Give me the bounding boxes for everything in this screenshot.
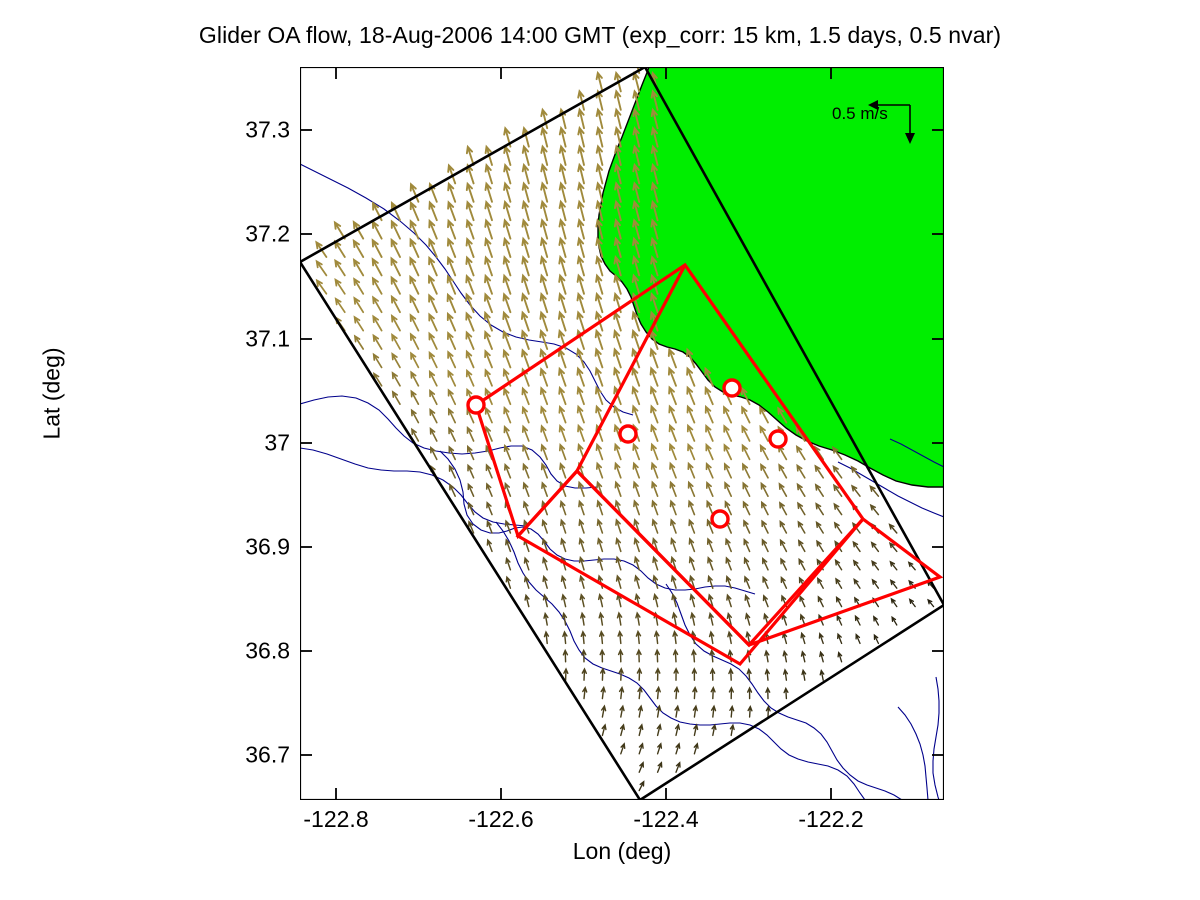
y-axis-label: Lat (deg)	[39, 264, 66, 524]
y-tick-36.8: 36.8	[200, 638, 290, 665]
vector-scale-label: 0.5 m/s	[832, 104, 888, 124]
x-tick--122.4: -122.4	[596, 806, 736, 833]
y-tick-37: 37	[200, 430, 290, 457]
y-tick-36.7: 36.7	[200, 742, 290, 769]
y-tick-37.1: 37.1	[200, 326, 290, 353]
y-axis-tick-labels: 37.3 37.2 37.1 37 36.9 36.8 36.7	[195, 0, 290, 900]
y-tick-37.3: 37.3	[200, 117, 290, 144]
figure-title: Glider OA flow, 18-Aug-2006 14:00 GMT (e…	[0, 22, 1200, 49]
x-tick--122.8: -122.8	[266, 806, 406, 833]
map-canvas	[300, 67, 944, 800]
waypoint-marker	[620, 426, 636, 442]
waypoint-marker	[724, 380, 740, 396]
plot-area: 0.5 m/s	[300, 67, 944, 800]
waypoint-marker	[712, 511, 728, 527]
x-tick--122.6: -122.6	[431, 806, 571, 833]
x-axis-tick-labels: -122.8 -122.6 -122.4 -122.2	[0, 806, 1200, 846]
waypoint-marker	[468, 397, 484, 413]
y-tick-36.9: 36.9	[200, 534, 290, 561]
figure-page: Glider OA flow, 18-Aug-2006 14:00 GMT (e…	[0, 0, 1200, 900]
y-tick-37.2: 37.2	[200, 221, 290, 248]
x-tick--122.2: -122.2	[761, 806, 901, 833]
waypoint-marker	[770, 431, 786, 447]
